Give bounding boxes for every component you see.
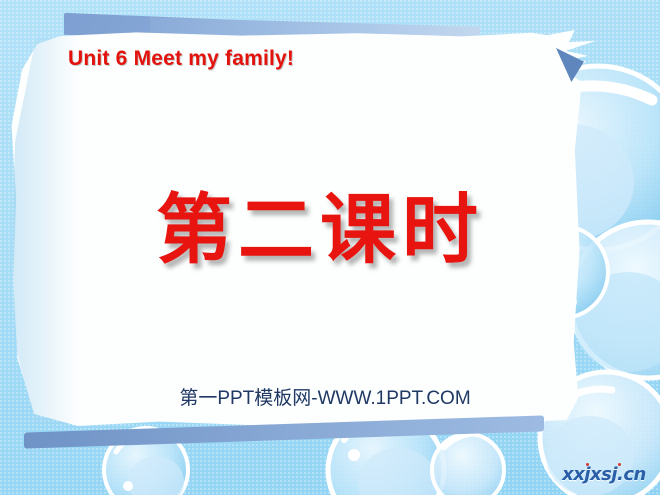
presentation-slide: Unit 6 Meet my family! 第二课时 第一PPT模板网-WWW… (0, 0, 660, 495)
unit-title: Unit 6 Meet my family! (68, 47, 294, 71)
footer-credit: 第一PPT模板网-WWW.1PPT.COM (0, 383, 650, 410)
bubble-bottom-center-small (432, 434, 504, 495)
watermark-logo: xxjxsj.cn (556, 457, 652, 487)
lesson-title: 第二课时 (0, 168, 640, 278)
watermark-text: xxjxsj.cn (556, 464, 652, 485)
